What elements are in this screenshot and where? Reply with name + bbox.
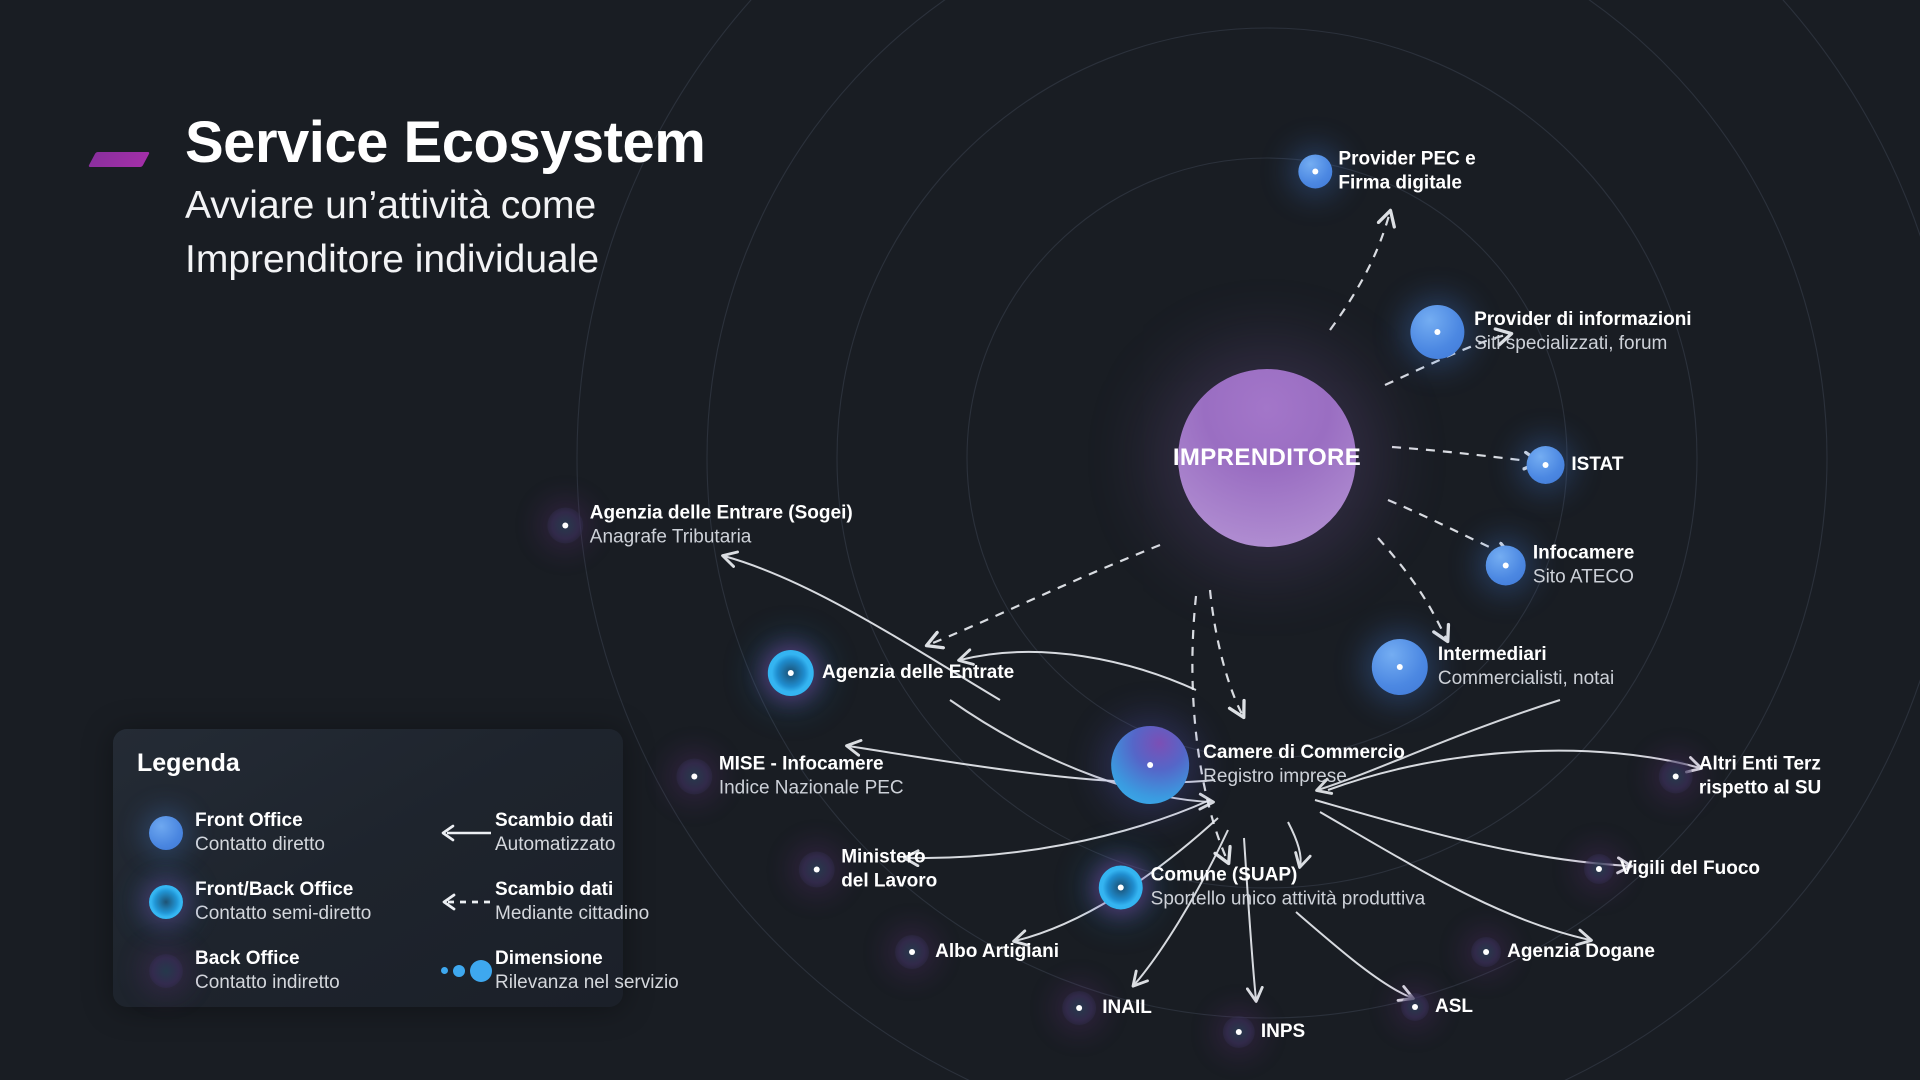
- node-agenzia-entrate[interactable]: Agenzia delle Entrate: [768, 650, 1014, 696]
- title-block: Service Ecosystem Avviare un’attività co…: [92, 112, 872, 287]
- node-sublabel: Registro imprese: [1203, 765, 1405, 789]
- node-label: Agenzia Dogane: [1507, 940, 1655, 964]
- node-camere-commercio[interactable]: Camere di CommercioRegistro imprese: [1111, 726, 1405, 804]
- node-label-line2: Firma digitale: [1338, 171, 1475, 195]
- node-label: IMPRENDITORE: [1173, 444, 1361, 472]
- node-vigili-fuoco[interactable]: Vigili del Fuoco: [1584, 854, 1760, 884]
- node-label: Ministero: [841, 845, 937, 869]
- front-office-swatch: [137, 804, 195, 862]
- node-label: Agenzia delle Entrate: [822, 661, 1014, 685]
- page-subtitle: Avviare un’attività come Imprenditore in…: [185, 179, 825, 287]
- node-marker: [1584, 854, 1614, 884]
- node-sublabel: Siti specializzati, forum: [1474, 332, 1691, 356]
- dashed-arrow-icon: [437, 873, 495, 931]
- node-sublabel: Indice Nazionale PEC: [719, 776, 904, 800]
- legend-sublabel: Contatto indiretto: [195, 971, 340, 994]
- node-bullet-icon: [1434, 329, 1440, 335]
- legend-sublabel: Automatizzato: [495, 833, 615, 856]
- node-labels: Comune (SUAP)Sportello unico attività pr…: [1151, 863, 1426, 910]
- node-labels: INPS: [1261, 1020, 1305, 1044]
- node-provider-pec[interactable]: Provider PEC eFirma digitale: [1298, 147, 1475, 194]
- legend-label: Back Office: [195, 947, 340, 970]
- node-bullet-icon: [909, 949, 915, 955]
- node-marker: [1223, 1016, 1255, 1048]
- legend-sublabel: Mediante cittadino: [495, 902, 649, 925]
- node-bullet-icon: [1412, 1004, 1418, 1010]
- node-label: ISTAT: [1571, 453, 1623, 477]
- node-labels: InfocamereSito ATECO: [1533, 541, 1634, 588]
- node-labels: Ministerodel Lavoro: [841, 845, 937, 892]
- node-mise-infocamere[interactable]: MISE - InfocamereIndice Nazionale PEC: [676, 752, 903, 799]
- node-albo-artigiani[interactable]: Albo Artigiani: [895, 935, 1059, 969]
- node-istat[interactable]: ISTAT: [1527, 446, 1624, 484]
- legend-item-dimensione: Dimensione Rilevanza nel servizio: [437, 936, 679, 1005]
- legend-grid: Front Office Contatto diretto Scambio da…: [137, 798, 605, 1005]
- legend-item-back-office: Back Office Contatto indiretto: [137, 936, 437, 1005]
- node-labels: INAIL: [1102, 996, 1152, 1020]
- accent-dash-icon: [88, 152, 150, 167]
- legend-sublabel: Contatto semi-diretto: [195, 902, 371, 925]
- node-bullet-icon: [1147, 762, 1153, 768]
- page-title: Service Ecosystem: [185, 112, 872, 173]
- node-label-line2: rispetto al SU: [1699, 776, 1821, 800]
- node-agenzia-dogane[interactable]: Agenzia Dogane: [1471, 937, 1655, 967]
- page-subtitle-line1: Avviare un’attività come: [185, 179, 825, 233]
- node-marker: [799, 851, 835, 887]
- node-bullet-icon: [1118, 884, 1124, 890]
- legend-sublabel: Rilevanza nel servizio: [495, 971, 679, 994]
- front-back-office-swatch: [137, 873, 195, 931]
- node-labels: Provider PEC eFirma digitale: [1338, 147, 1475, 194]
- legend-label: Front Office: [195, 809, 325, 832]
- node-labels: IntermediariCommercialisti, notai: [1438, 643, 1614, 690]
- node-marker: [1410, 305, 1464, 359]
- legend-sublabel: Contatto diretto: [195, 833, 325, 856]
- node-labels: Agenzia Dogane: [1507, 940, 1655, 964]
- node-bullet-icon: [814, 866, 820, 872]
- node-labels: ASL: [1435, 995, 1473, 1019]
- node-bullet-icon: [1236, 1029, 1242, 1035]
- node-labels: Albo Artigiani: [935, 940, 1059, 964]
- node-asl[interactable]: ASL: [1401, 993, 1473, 1021]
- node-sublabel: Commercialisti, notai: [1438, 667, 1614, 691]
- node-label: Infocamere: [1533, 541, 1634, 565]
- node-altri-enti[interactable]: Altri Enti Terzrispetto al SU: [1659, 752, 1822, 799]
- node-bullet-icon: [788, 670, 794, 676]
- node-marker: [1471, 937, 1501, 967]
- legend-title: Legenda: [137, 749, 240, 778]
- node-marker: [547, 507, 583, 543]
- legend-item-front-office: Front Office Contatto diretto: [137, 798, 437, 867]
- node-label: Albo Artigiani: [935, 940, 1059, 964]
- node-label: INAIL: [1102, 996, 1152, 1020]
- back-office-swatch: [137, 942, 195, 1000]
- node-marker: [895, 935, 929, 969]
- node-label: Altri Enti Terz: [1699, 752, 1821, 776]
- legend-label: Front/Back Office: [195, 878, 371, 901]
- node-marker: [1298, 154, 1332, 188]
- solid-arrow-icon: [437, 804, 495, 862]
- node-label: ASL: [1435, 995, 1473, 1019]
- legend-label: Scambio dati: [495, 809, 615, 832]
- legend-item-scambio-cittadino: Scambio dati Mediante cittadino: [437, 867, 679, 936]
- node-marker: [1062, 991, 1096, 1025]
- size-scale-icon: [437, 942, 495, 1000]
- legend-panel: Legenda Front Office Contatto diretto Sc: [113, 729, 623, 1007]
- node-inps[interactable]: INPS: [1223, 1016, 1305, 1048]
- node-comune-suap[interactable]: Comune (SUAP)Sportello unico attività pr…: [1099, 863, 1426, 910]
- node-provider-info[interactable]: Provider di informazioniSiti specializza…: [1410, 305, 1691, 359]
- node-label: Provider PEC e: [1338, 147, 1475, 171]
- node-bullet-icon: [1397, 664, 1403, 670]
- node-labels: Agenzia delle Entrate: [822, 661, 1014, 685]
- node-marker: [768, 650, 814, 696]
- node-bullet-icon: [1673, 773, 1679, 779]
- node-marker: [1372, 639, 1428, 695]
- node-labels: Agenzia delle Entrare (Sogei)Anagrafe Tr…: [590, 501, 853, 548]
- node-intermediari[interactable]: IntermediariCommercialisti, notai: [1372, 639, 1614, 695]
- legend-label: Dimensione: [495, 947, 679, 970]
- node-bullet-icon: [1076, 1005, 1082, 1011]
- node-sublabel: Sportello unico attività produttiva: [1151, 887, 1426, 911]
- node-infocamere[interactable]: InfocamereSito ATECO: [1486, 541, 1635, 588]
- node-labels: Vigili del Fuoco: [1620, 857, 1760, 881]
- node-label-line2: del Lavoro: [841, 869, 937, 893]
- node-bullet-icon: [1596, 866, 1602, 872]
- node-marker: [1486, 545, 1526, 585]
- node-label: INPS: [1261, 1020, 1305, 1044]
- node-marker: [676, 758, 712, 794]
- node-bullet-icon: [562, 522, 568, 528]
- node-label: MISE - Infocamere: [719, 752, 904, 776]
- node-label: Camere di Commercio: [1203, 741, 1405, 765]
- node-marker: [1527, 446, 1565, 484]
- node-ministero-lavoro[interactable]: Ministerodel Lavoro: [799, 845, 938, 892]
- node-bullet-icon: [1312, 168, 1318, 174]
- node-bullet-icon: [691, 773, 697, 779]
- legend-label: Scambio dati: [495, 878, 649, 901]
- node-labels: Provider di informazioniSiti specializza…: [1474, 308, 1691, 355]
- node-label: Vigili del Fuoco: [1620, 857, 1760, 881]
- node-bullet-icon: [1543, 462, 1549, 468]
- node-agenzia-sogei[interactable]: Agenzia delle Entrare (Sogei)Anagrafe Tr…: [547, 501, 852, 548]
- node-marker: [1659, 759, 1693, 793]
- node-label: Intermediari: [1438, 643, 1614, 667]
- page-subtitle-line2: Imprenditore individuale: [185, 233, 825, 287]
- node-label: Comune (SUAP): [1151, 863, 1426, 887]
- node-inail[interactable]: INAIL: [1062, 991, 1152, 1025]
- node-marker: [1401, 993, 1429, 1021]
- node-labels: ISTAT: [1571, 453, 1623, 477]
- node-bullet-icon: [1503, 562, 1509, 568]
- node-imprenditore[interactable]: IMPRENDITORE: [1178, 369, 1356, 547]
- legend-item-front-back-office: Front/Back Office Contatto semi-diretto: [137, 867, 437, 936]
- service-ecosystem-diagram: Service Ecosystem Avviare un’attività co…: [0, 0, 1920, 1080]
- node-sublabel: Sito ATECO: [1533, 565, 1634, 589]
- node-sublabel: Anagrafe Tributaria: [590, 525, 853, 549]
- node-labels: Altri Enti Terzrispetto al SU: [1699, 752, 1821, 799]
- node-label: Agenzia delle Entrare (Sogei): [590, 501, 853, 525]
- node-labels: Camere di CommercioRegistro imprese: [1203, 741, 1405, 788]
- node-labels: MISE - InfocamereIndice Nazionale PEC: [719, 752, 904, 799]
- node-marker: [1111, 726, 1189, 804]
- node-marker: [1099, 865, 1143, 909]
- node-label: Provider di informazioni: [1474, 308, 1691, 332]
- node-bullet-icon: [1483, 949, 1489, 955]
- legend-item-scambio-automatizzato: Scambio dati Automatizzato: [437, 798, 679, 867]
